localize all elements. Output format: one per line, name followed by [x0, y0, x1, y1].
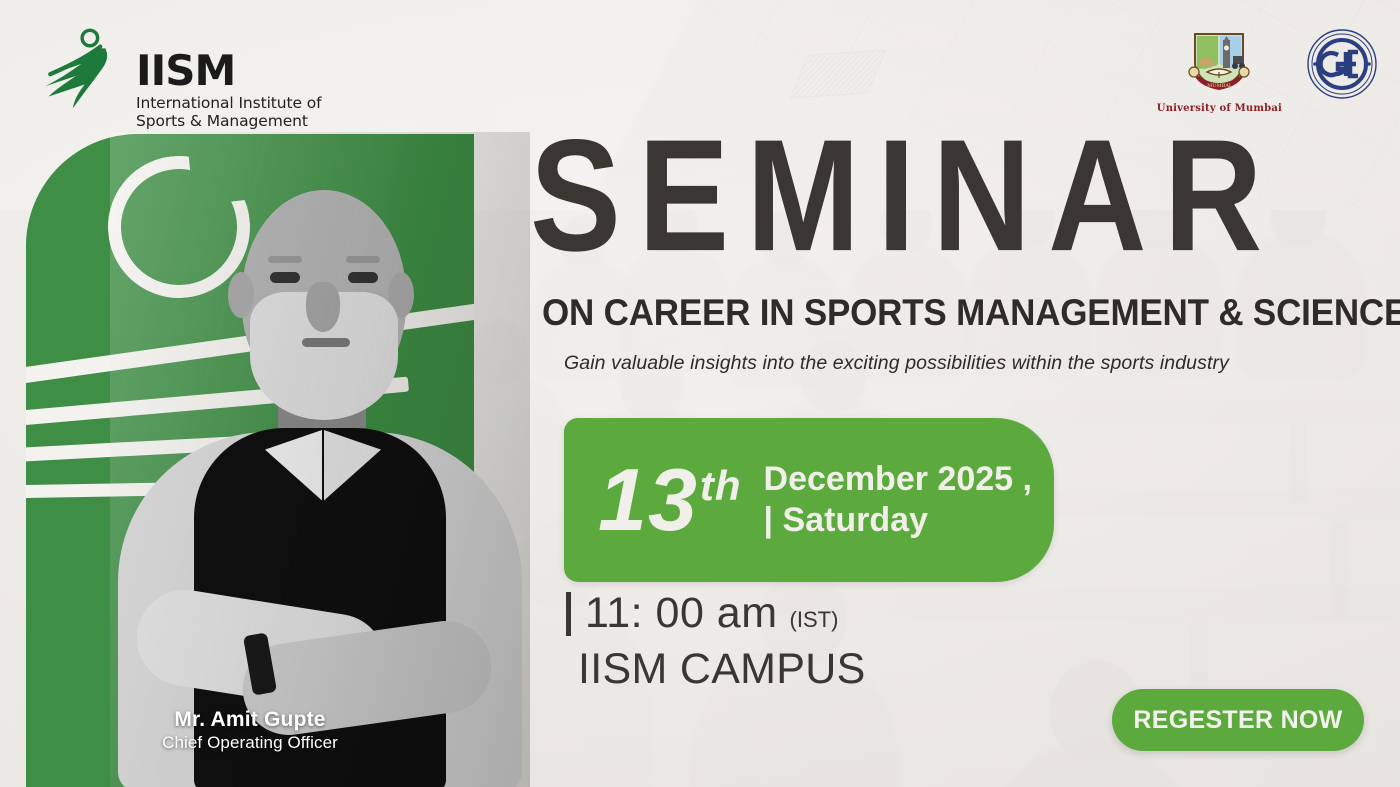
event-time: 11: 00 am: [585, 589, 778, 638]
page-tagline: Gain valuable insights into the exciting…: [564, 352, 1229, 375]
event-timezone: (IST): [790, 607, 839, 633]
brand-fullname: International Institute of Sports & Mana…: [136, 94, 322, 131]
speaker-portrait: [110, 132, 530, 787]
event-venue: IISM CAMPUS: [578, 645, 866, 694]
content-column: SEMINAR ON CAREER IN SPORTS MANAGEMENT &…: [516, 0, 1400, 787]
event-day-number: 13: [598, 450, 698, 549]
brand-fullname-line1: International Institute of: [136, 94, 322, 113]
time-accent-bar-icon: [566, 592, 571, 636]
event-month-year: December 2025 ,: [764, 459, 1032, 500]
iism-brand-logo: IISM International Institute of Sports &…: [40, 26, 322, 131]
brand-abbreviation: IISM: [136, 52, 322, 91]
page-subtitle: ON CAREER IN SPORTS MANAGEMENT & SCIENCE: [542, 292, 1400, 334]
event-day-ordinal: th: [700, 462, 742, 509]
iism-swoosh-logo-icon: [40, 26, 126, 112]
event-day: 13th: [598, 456, 742, 544]
register-now-button[interactable]: REGESTER NOW: [1112, 689, 1364, 751]
event-weekday: | Saturday: [764, 500, 1032, 541]
event-date-banner: 13th December 2025 , | Saturday: [564, 418, 1054, 582]
speaker-caption: Mr. Amit Gupte Chief Operating Officer: [26, 708, 474, 753]
seminar-poster: Mr. Amit Gupte Chief Operating Officer I…: [0, 0, 1400, 787]
event-time-row: 11: 00 am (IST): [566, 589, 838, 638]
brand-fullname-line2: Sports & Management: [136, 112, 322, 131]
page-title: SEMINAR: [530, 128, 1365, 265]
event-date-detail: December 2025 , | Saturday: [764, 459, 1032, 542]
speaker-name: Mr. Amit Gupte: [26, 708, 474, 733]
speaker-role: Chief Operating Officer: [26, 733, 474, 753]
